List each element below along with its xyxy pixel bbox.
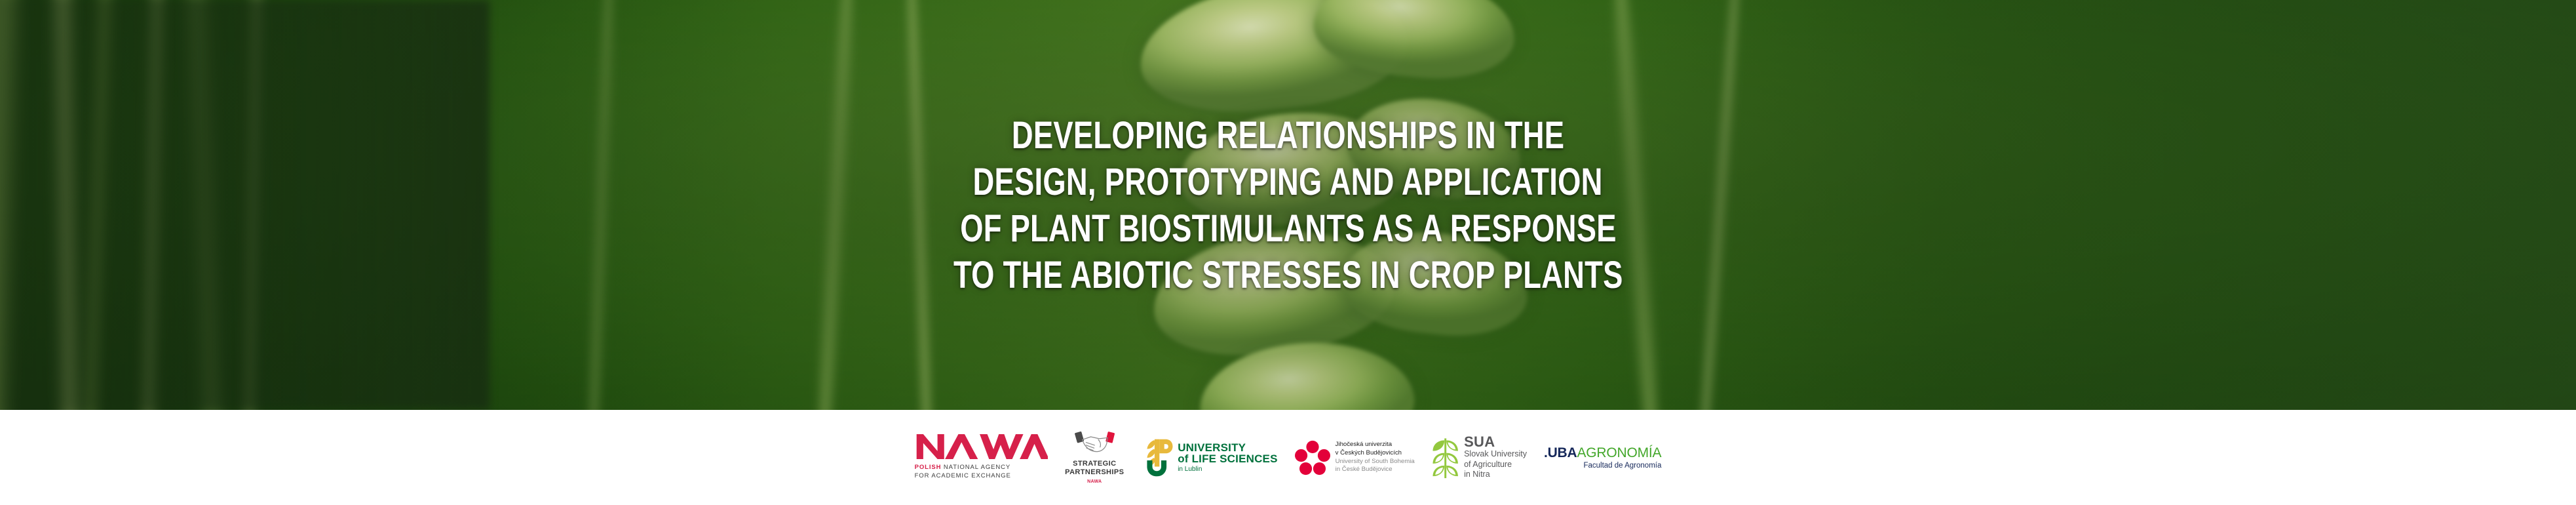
usb-en-line-1: University of South Bohemia	[1336, 458, 1415, 466]
uls-line-3: in Lublin	[1178, 466, 1277, 473]
sua-line-2: of Agriculture	[1464, 460, 1527, 470]
sp-line-3: NAWA	[1065, 479, 1124, 485]
logo-university-of-life-sciences-lublin[interactable]: UNIVERSITY of LIFE SCIENCES in Lublin	[1141, 425, 1277, 491]
headline-line-1: DEVELOPING RELATIONSHIPS IN THE	[1012, 112, 1564, 159]
usb-text: Jihočeská univerzita v Českých Budějovic…	[1336, 441, 1415, 474]
usb-en-line-2: in České Budějovice	[1336, 466, 1415, 474]
usb-cz-line-1: Jihočeská univerzita	[1336, 441, 1415, 449]
nawa-tagline-line2: FOR ACADEMIC EXCHANGE	[915, 472, 1011, 481]
nawa-tagline-highlight: POLISH	[915, 464, 942, 471]
handshake-icon	[1072, 430, 1117, 456]
logo-strategic-partnerships[interactable]: STRATEGIC PARTNERSHIPS NAWA	[1065, 425, 1124, 491]
headline-line-2: DESIGN, PROTOTYPING AND APPLICATION	[973, 159, 1603, 205]
nawa-tagline-line1: NATIONAL AGENCY	[944, 464, 1010, 471]
sua-text: SUA Slovak University of Agriculture in …	[1464, 435, 1527, 480]
usb-cz-line-2: v Českých Budějovicích	[1336, 449, 1415, 458]
leaf-cluster-icon	[1432, 435, 1459, 480]
uba-subtitle: Facultad de Agronomía	[1583, 462, 1661, 470]
sua-abbrev: SUA	[1464, 435, 1527, 449]
uba-wordmark: .UBA AGRONOMÍA	[1544, 445, 1661, 461]
wheat-ear-u-p-icon	[1141, 437, 1174, 478]
logo-uba-agronomia[interactable]: .UBA AGRONOMÍA Facultad de Agronomía	[1544, 425, 1661, 491]
uba-wordmark-part-2: AGRONOMÍA	[1577, 445, 1661, 461]
logo-slovak-university-of-agriculture[interactable]: SUA Slovak University of Agriculture in …	[1432, 425, 1527, 491]
uba-wordmark-part-1: .UBA	[1544, 445, 1577, 461]
uls-line-2: of LIFE SCIENCES	[1178, 453, 1277, 465]
uls-text: UNIVERSITY of LIFE SCIENCES in Lublin	[1178, 442, 1277, 474]
sua-line-3: in Nitra	[1464, 470, 1527, 480]
five-circle-rose-icon	[1295, 440, 1330, 475]
logo-nawa[interactable]: POLISH NATIONAL AGENCY FOR ACADEMIC EXCH…	[915, 425, 1048, 491]
nawa-wordmark-icon	[915, 434, 1048, 459]
sua-line-1: Slovak University	[1464, 449, 1527, 460]
sp-line-1: STRATEGIC	[1065, 460, 1124, 468]
headline-line-4: TO THE ABIOTIC STRESSES IN CROP PLANTS	[953, 252, 1623, 298]
hero-headline: DEVELOPING RELATIONSHIPS IN THE DESIGN, …	[0, 0, 2576, 410]
nawa-tagline: POLISH NATIONAL AGENCY FOR ACADEMIC EXCH…	[915, 464, 1011, 480]
strategic-partnerships-text: STRATEGIC PARTNERSHIPS NAWA	[1065, 460, 1124, 485]
uls-line-1: UNIVERSITY	[1178, 442, 1277, 454]
hero-banner: DEVELOPING RELATIONSHIPS IN THE DESIGN, …	[0, 0, 2576, 410]
logo-university-of-south-bohemia[interactable]: Jihočeská univerzita v Českých Budějovic…	[1295, 425, 1415, 491]
sp-line-2: PARTNERSHIPS	[1065, 468, 1124, 477]
headline-line-3: OF PLANT BIOSTIMULANTS AS A RESPONSE	[960, 205, 1617, 252]
partner-logo-bar: POLISH NATIONAL AGENCY FOR ACADEMIC EXCH…	[0, 410, 2576, 505]
